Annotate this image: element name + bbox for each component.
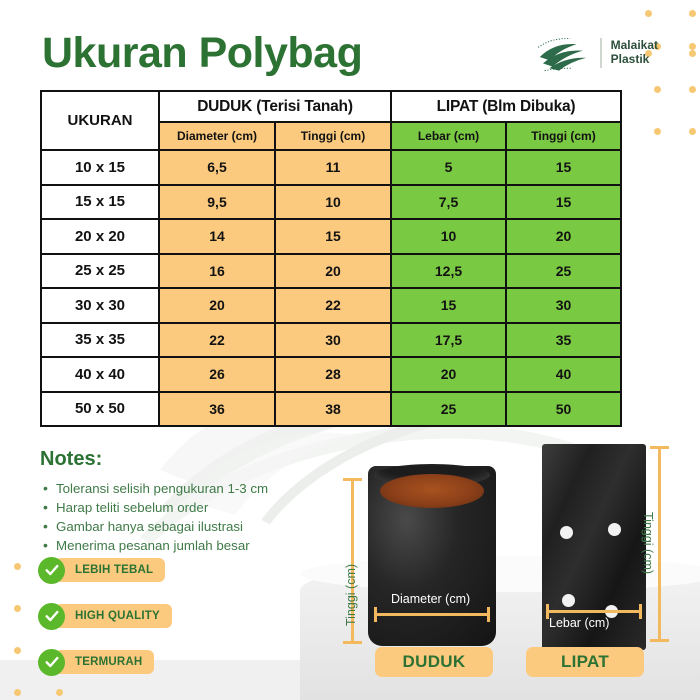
feature-badge: HIGH QUALITY (38, 602, 172, 630)
duduk-caption-button[interactable]: DUDUK (375, 647, 493, 677)
cell-lipat-lebar: 20 (391, 357, 506, 392)
cell-duduk-tinggi: 28 (275, 357, 391, 392)
duduk-bag-image (368, 466, 496, 646)
cell-size: 35 x 35 (41, 323, 159, 358)
duduk-height-dim-label: Tinggi (cm) (344, 564, 358, 626)
cell-duduk-diameter: 6,5 (159, 150, 275, 185)
col-header-ukuran: UKURAN (41, 91, 159, 150)
product-illustrations: Tinggi (cm) Diameter (cm) Tinggi (cm) Le… (330, 440, 700, 700)
table-row: 25 x 25162012,525 (41, 254, 621, 289)
duduk-height-dim-cap-bottom (343, 641, 362, 644)
duduk-width-dim-label: Diameter (cm) (391, 592, 470, 606)
table-row: 10 x 156,511515 (41, 150, 621, 185)
cell-lipat-tinggi: 40 (506, 357, 621, 392)
cell-size: 25 x 25 (41, 254, 159, 289)
col-header-lipat-tinggi: Tinggi (cm) (506, 122, 621, 150)
lipat-width-dim-label: Lebar (cm) (549, 616, 609, 630)
decor-dot (689, 50, 696, 57)
decor-dot (14, 647, 21, 654)
cell-duduk-tinggi: 38 (275, 392, 391, 427)
cell-duduk-tinggi: 22 (275, 288, 391, 323)
decor-dot (654, 128, 661, 135)
decor-dot (689, 10, 696, 17)
feature-badge-label: LEBIH TEBAL (55, 558, 165, 582)
notes-section: Notes: Toleransi selisih pengukuran 1-3 … (40, 448, 340, 556)
notes-title: Notes: (40, 448, 340, 471)
duduk-width-dim-cap-left (374, 607, 377, 622)
check-icon (44, 562, 60, 578)
cell-duduk-tinggi: 11 (275, 150, 391, 185)
cell-lipat-tinggi: 30 (506, 288, 621, 323)
polybag-size-table: UKURAN DUDUK (Terisi Tanah) LIPAT (Blm D… (40, 90, 622, 427)
check-icon (44, 654, 60, 670)
check-circle-icon (38, 603, 65, 630)
cell-duduk-tinggi: 30 (275, 323, 391, 358)
lipat-bag-hole (560, 526, 573, 539)
table-row: 35 x 35223017,535 (41, 323, 621, 358)
cell-duduk-diameter: 16 (159, 254, 275, 289)
lipat-width-dim-line (546, 610, 642, 613)
cell-size: 15 x 15 (41, 185, 159, 220)
brand-name-line2: Plastik (611, 53, 658, 67)
col-header-duduk-tinggi: Tinggi (cm) (275, 122, 391, 150)
col-header-lipat-lebar: Lebar (cm) (391, 122, 506, 150)
decor-dot (14, 563, 21, 570)
table-row: 15 x 159,5107,515 (41, 185, 621, 220)
note-item: Harap teliti sebelum order (40, 499, 340, 518)
decor-dot (645, 10, 652, 17)
cell-lipat-lebar: 5 (391, 150, 506, 185)
cell-duduk-diameter: 20 (159, 288, 275, 323)
table-row: 50 x 5036382550 (41, 392, 621, 427)
cell-lipat-lebar: 25 (391, 392, 506, 427)
lipat-bag-hole (562, 594, 575, 607)
cell-lipat-tinggi: 15 (506, 150, 621, 185)
lipat-height-dim-label: Tinggi (cm) (641, 512, 655, 574)
cell-duduk-diameter: 9,5 (159, 185, 275, 220)
check-icon (44, 608, 60, 624)
page-header: Ukuran Polybag Malaikat Plastik (42, 20, 658, 86)
cell-duduk-tinggi: 10 (275, 185, 391, 220)
cell-duduk-tinggi: 20 (275, 254, 391, 289)
check-circle-icon (38, 649, 65, 676)
note-item: Menerima pesanan jumlah besar (40, 537, 340, 556)
cell-lipat-tinggi: 50 (506, 392, 621, 427)
note-item: Gambar hanya sebagai ilustrasi (40, 518, 340, 537)
feature-badge-label: TERMURAH (55, 650, 154, 674)
polybag-size-table-wrapper: UKURAN DUDUK (Terisi Tanah) LIPAT (Blm D… (40, 90, 622, 427)
feature-badges: LEBIH TEBALHIGH QUALITYTERMURAH (38, 556, 172, 694)
table-row: 20 x 2014151020 (41, 219, 621, 254)
cell-duduk-diameter: 26 (159, 357, 275, 392)
cell-lipat-lebar: 17,5 (391, 323, 506, 358)
lipat-height-dim-line (658, 446, 661, 642)
cell-size: 40 x 40 (41, 357, 159, 392)
cell-duduk-diameter: 22 (159, 323, 275, 358)
lipat-height-dim-cap-bottom (650, 639, 669, 642)
decor-dot (689, 86, 696, 93)
duduk-width-dim-cap-right (487, 607, 490, 622)
cell-duduk-diameter: 14 (159, 219, 275, 254)
cell-lipat-lebar: 12,5 (391, 254, 506, 289)
lipat-bag-hole (608, 523, 621, 536)
lipat-height-dim-cap-top (650, 446, 669, 449)
decor-dot (689, 128, 696, 135)
duduk-bag-soil (380, 474, 484, 508)
col-header-duduk-diameter: Diameter (cm) (159, 122, 275, 150)
decor-dot (14, 605, 21, 612)
table-head: UKURAN DUDUK (Terisi Tanah) LIPAT (Blm D… (41, 91, 621, 150)
duduk-width-dim-line (374, 613, 490, 616)
check-circle-icon (38, 557, 65, 584)
decor-dot (654, 86, 661, 93)
cell-size: 20 x 20 (41, 219, 159, 254)
cell-lipat-lebar: 10 (391, 219, 506, 254)
brand-name: Malaikat Plastik (611, 39, 658, 67)
table-row: 30 x 3020221530 (41, 288, 621, 323)
cell-lipat-lebar: 15 (391, 288, 506, 323)
feature-badge: LEBIH TEBAL (38, 556, 172, 584)
table-header-row-groups: UKURAN DUDUK (Terisi Tanah) LIPAT (Blm D… (41, 91, 621, 122)
cell-duduk-diameter: 36 (159, 392, 275, 427)
cell-lipat-tinggi: 20 (506, 219, 621, 254)
table-row: 40 x 4026282040 (41, 357, 621, 392)
cell-lipat-tinggi: 15 (506, 185, 621, 220)
decor-dot (689, 43, 696, 50)
page-title: Ukuran Polybag (42, 32, 362, 75)
lipat-caption-button[interactable]: LIPAT (526, 647, 644, 677)
lipat-width-dim-cap-right (639, 604, 642, 619)
cell-lipat-tinggi: 25 (506, 254, 621, 289)
malaikat-plastik-logo-icon (535, 33, 591, 73)
col-group-duduk: DUDUK (Terisi Tanah) (159, 91, 391, 122)
table-body: 10 x 156,51151515 x 159,5107,51520 x 201… (41, 150, 621, 426)
decor-dot (14, 689, 21, 696)
note-item: Toleransi selisih pengukuran 1-3 cm (40, 480, 340, 499)
brand-logo: Malaikat Plastik (535, 33, 658, 73)
cell-size: 50 x 50 (41, 392, 159, 427)
duduk-height-dim-cap-top (343, 478, 362, 481)
notes-list: Toleransi selisih pengukuran 1-3 cmHarap… (40, 480, 340, 556)
feature-badge-label: HIGH QUALITY (55, 604, 172, 628)
brand-divider (600, 38, 602, 68)
cell-size: 10 x 15 (41, 150, 159, 185)
feature-badge: TERMURAH (38, 648, 172, 676)
cell-duduk-tinggi: 15 (275, 219, 391, 254)
cell-lipat-tinggi: 35 (506, 323, 621, 358)
col-group-lipat: LIPAT (Blm Dibuka) (391, 91, 621, 122)
cell-size: 30 x 30 (41, 288, 159, 323)
brand-name-line1: Malaikat (611, 39, 658, 53)
cell-lipat-lebar: 7,5 (391, 185, 506, 220)
